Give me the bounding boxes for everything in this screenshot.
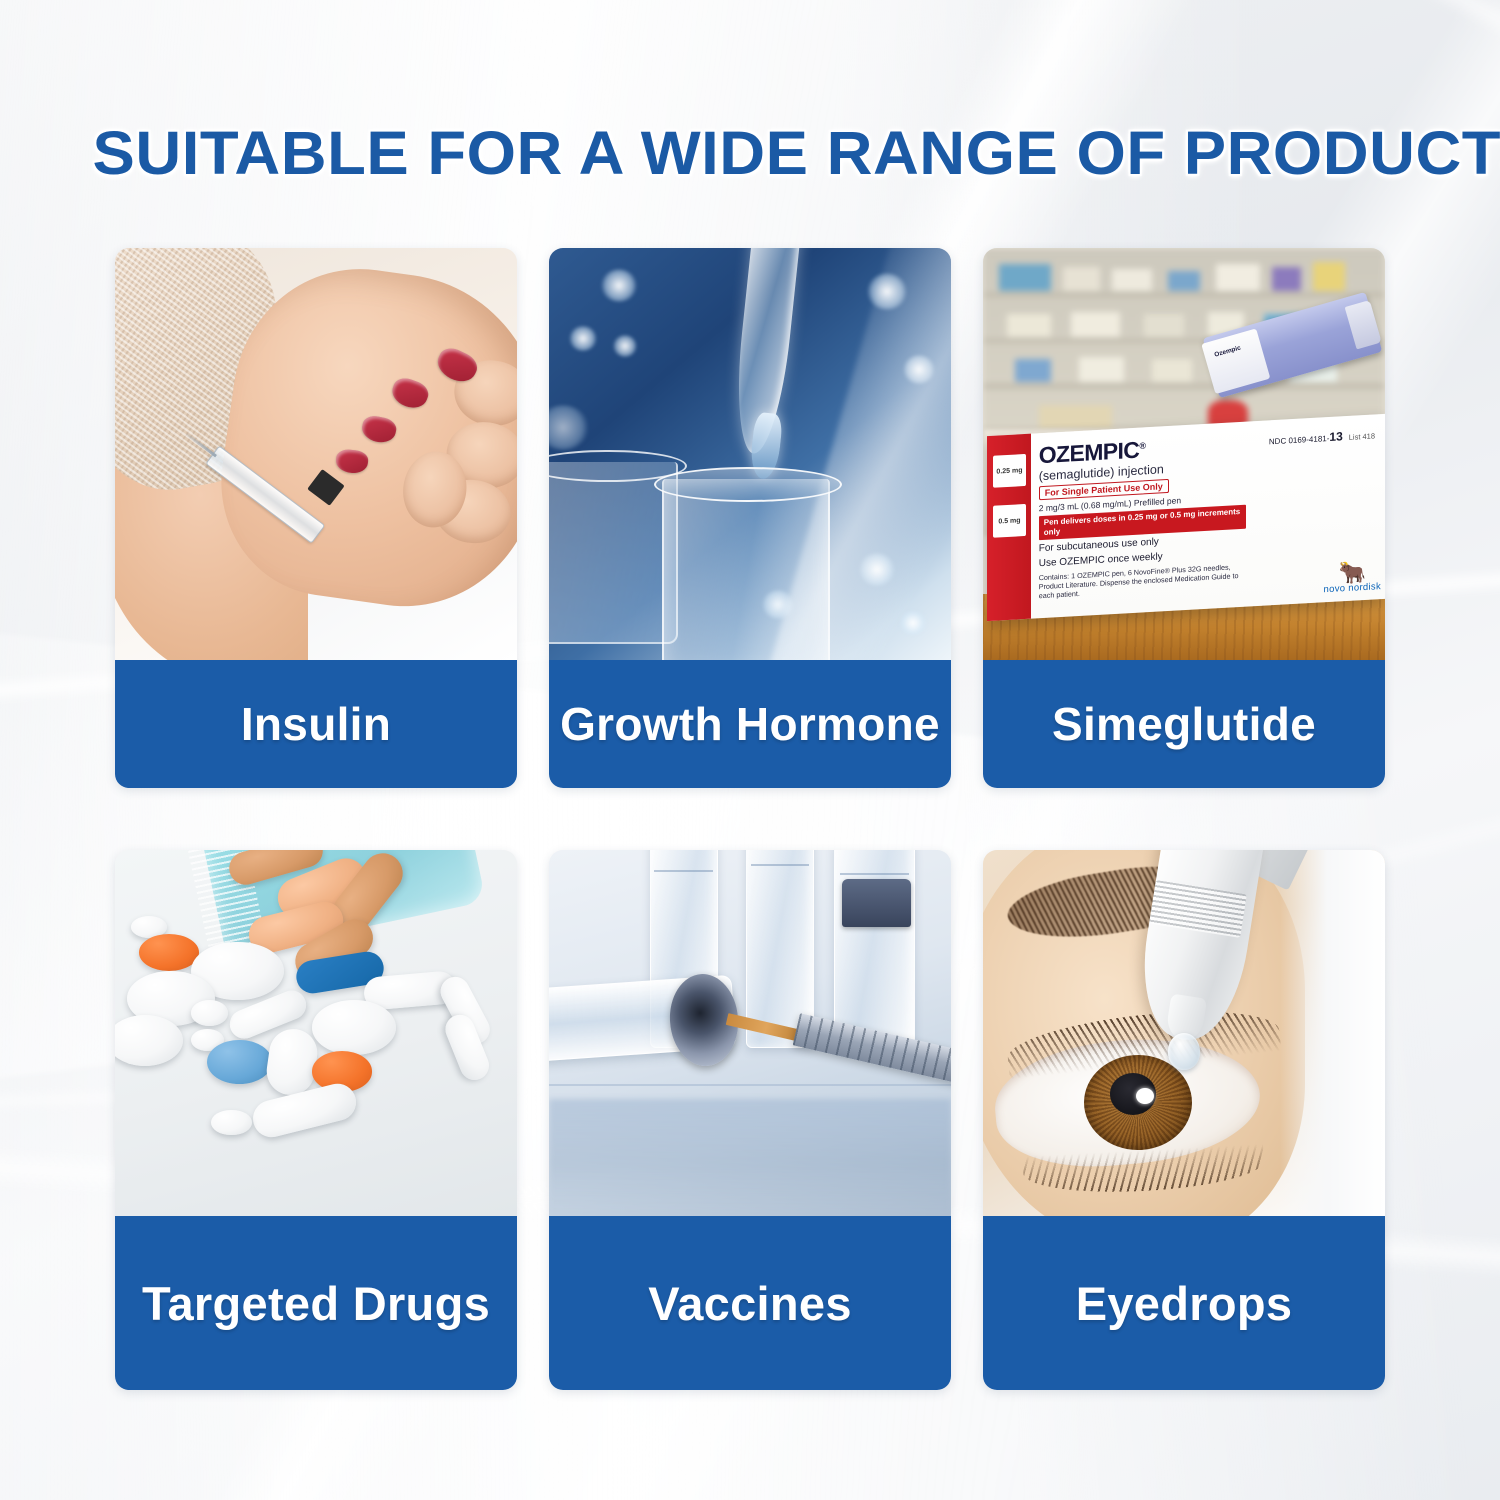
- eye-glint: [1136, 1088, 1154, 1104]
- product-card-growth-hormone[interactable]: Growth Hormone: [549, 248, 951, 788]
- pills-illustration: [115, 850, 517, 1216]
- photo-backdrop: [1280, 850, 1385, 1216]
- shelf-box: [1144, 314, 1184, 337]
- pill: [263, 1026, 320, 1098]
- bokeh-light: [549, 405, 589, 450]
- targeted-drugs-label-bar: Targeted Drugs: [115, 1216, 517, 1390]
- ozempic-package-illustration: 0.25 mg 0.5 mg OZEMPIC® (semaglutide) in…: [983, 248, 1385, 660]
- growth-hormone-photo: [549, 248, 951, 660]
- eyedrops-label-bar: Eyedrops: [983, 1216, 1385, 1390]
- product-card-vaccines[interactable]: Vaccines: [549, 850, 951, 1390]
- shelf-box: [1216, 264, 1260, 291]
- pill: [312, 1000, 396, 1055]
- dose-tab-025: 0.25 mg: [993, 454, 1027, 487]
- eyedrops-photo: [983, 850, 1385, 1216]
- liquid-drop: [1168, 1033, 1200, 1070]
- shelf-box: [999, 264, 1051, 291]
- surface-line: [549, 1084, 951, 1086]
- bokeh-light: [601, 269, 637, 302]
- simeglutide-label-bar: Simeglutide: [983, 660, 1385, 788]
- shelf-box: [1272, 267, 1300, 292]
- product-label-growth-hormone: Growth Hormone: [560, 697, 940, 751]
- reflection-overlay: [549, 1099, 951, 1216]
- pill: [139, 934, 199, 971]
- manufacturer-name: novo nordisk: [1324, 581, 1381, 595]
- pill: [191, 1000, 227, 1026]
- pill: [115, 1015, 183, 1066]
- product-label-simeglutide: Simeglutide: [1052, 697, 1316, 751]
- vial-cap-icon: [842, 879, 910, 927]
- shelf-box: [1313, 262, 1345, 291]
- shelf-box: [1168, 271, 1200, 292]
- shelf-line: [983, 293, 1385, 300]
- shelf-box: [1079, 357, 1123, 382]
- bokeh-light: [613, 335, 637, 358]
- eye-drop-illustration: [983, 850, 1385, 1216]
- shelf-box: [1007, 314, 1051, 337]
- product-card-targeted-drugs[interactable]: Targeted Drugs: [115, 850, 517, 1390]
- shelf-box: [1152, 359, 1192, 382]
- shelf-box: [1039, 405, 1111, 430]
- growth-hormone-label-bar: Growth Hormone: [549, 660, 951, 788]
- pen-label: Ozempic: [1214, 344, 1242, 358]
- insulin-label-bar: Insulin: [115, 660, 517, 788]
- ozempic-carton: 0.25 mg 0.5 mg OZEMPIC® (semaglutide) in…: [987, 414, 1385, 622]
- shelf-box: [1015, 359, 1051, 382]
- carton-text-block: OZEMPIC® (semaglutide) injection For Sin…: [1039, 433, 1246, 601]
- lab-pipette-illustration: [549, 248, 951, 660]
- pill: [207, 1040, 271, 1084]
- product-label-vaccines: Vaccines: [648, 1276, 852, 1331]
- insulin-photo: [115, 248, 517, 660]
- insulin-injection-illustration: [115, 248, 517, 660]
- product-card-eyedrops[interactable]: Eyedrops: [983, 850, 1385, 1390]
- product-label-insulin: Insulin: [241, 697, 391, 751]
- bokeh-light: [569, 326, 597, 351]
- beaker-icon: [662, 479, 831, 660]
- simeglutide-photo: 0.25 mg 0.5 mg OZEMPIC® (semaglutide) in…: [983, 248, 1385, 660]
- product-label-targeted-drugs: Targeted Drugs: [142, 1276, 490, 1331]
- ozempic-ndc-code: NDC 0169-4181-13List 418: [1269, 428, 1375, 448]
- vaccines-photo: [549, 850, 951, 1216]
- shelf-box: [1112, 269, 1152, 292]
- shelf-box: [1063, 267, 1099, 292]
- pill: [211, 1110, 251, 1136]
- product-label-eyedrops: Eyedrops: [1076, 1276, 1293, 1331]
- targeted-drugs-photo: [115, 850, 517, 1216]
- novo-nordisk-logo: 🐂 novo nordisk: [1324, 561, 1381, 595]
- dose-tab-05: 0.5 mg: [993, 505, 1027, 538]
- page-title: SUITABLE FOR A WIDE RANGE OF PRODUCTS: [93, 118, 1416, 188]
- shelf-line: [983, 384, 1385, 391]
- shelf-box: [1071, 312, 1119, 337]
- vaccines-label-bar: Vaccines: [549, 1216, 951, 1390]
- vaccine-vials-illustration: [549, 850, 951, 1216]
- product-card-simeglutide[interactable]: 0.25 mg 0.5 mg OZEMPIC® (semaglutide) in…: [983, 248, 1385, 788]
- product-card-insulin[interactable]: Insulin: [115, 248, 517, 788]
- product-grid: Insulin Growth Hormone: [115, 248, 1385, 1390]
